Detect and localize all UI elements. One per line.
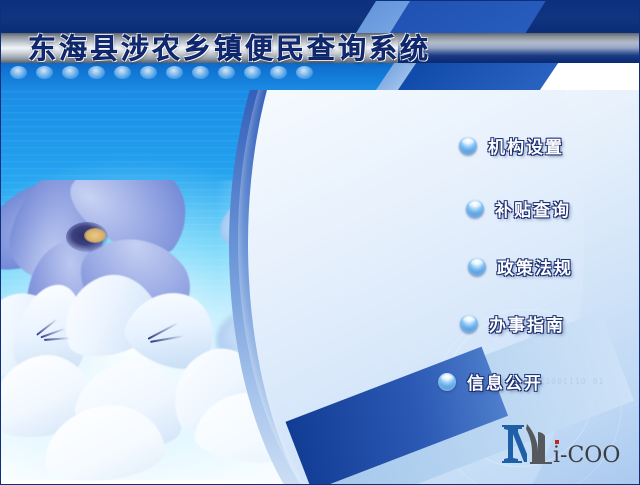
menu-item-xinxi-gongkai[interactable]: 信息公开 bbox=[438, 369, 543, 394]
blue-orb-bullet-icon bbox=[466, 200, 484, 218]
blue-orb-bullet-icon bbox=[468, 258, 486, 276]
menu-item-label: 政策法规 bbox=[497, 254, 573, 279]
micoo-logo-icon: i-COO bbox=[500, 418, 630, 470]
blue-orb-bullet-icon bbox=[438, 373, 456, 391]
menu-item-zhengce-fagui[interactable]: 政策法规 bbox=[468, 254, 573, 279]
menu-item-jigou-shezhi[interactable]: 机构设置 bbox=[459, 133, 564, 158]
blue-orb-bullet-icon bbox=[459, 137, 477, 155]
menu-item-label: 信息公开 bbox=[467, 369, 543, 394]
menu-item-label: 补贴查询 bbox=[495, 196, 571, 221]
menu-item-banshi-zhinan[interactable]: 办事指南 bbox=[460, 311, 565, 336]
menu-item-label: 机构设置 bbox=[488, 133, 564, 158]
blue-orb-bullet-icon bbox=[460, 315, 478, 333]
brand-logo[interactable]: i-COO bbox=[500, 418, 630, 470]
menu-item-butie-chaxun[interactable]: 补贴查询 bbox=[466, 196, 571, 221]
menu-item-label: 办事指南 bbox=[489, 311, 565, 336]
svg-text:i-COO: i-COO bbox=[553, 443, 620, 468]
application-window: 0100010111001110 01 东海县涉农乡镇便民查询系统 bbox=[0, 0, 640, 485]
main-menu: 机构设置 补贴查询 政策法规 办事指南 信息公开 bbox=[0, 0, 640, 485]
